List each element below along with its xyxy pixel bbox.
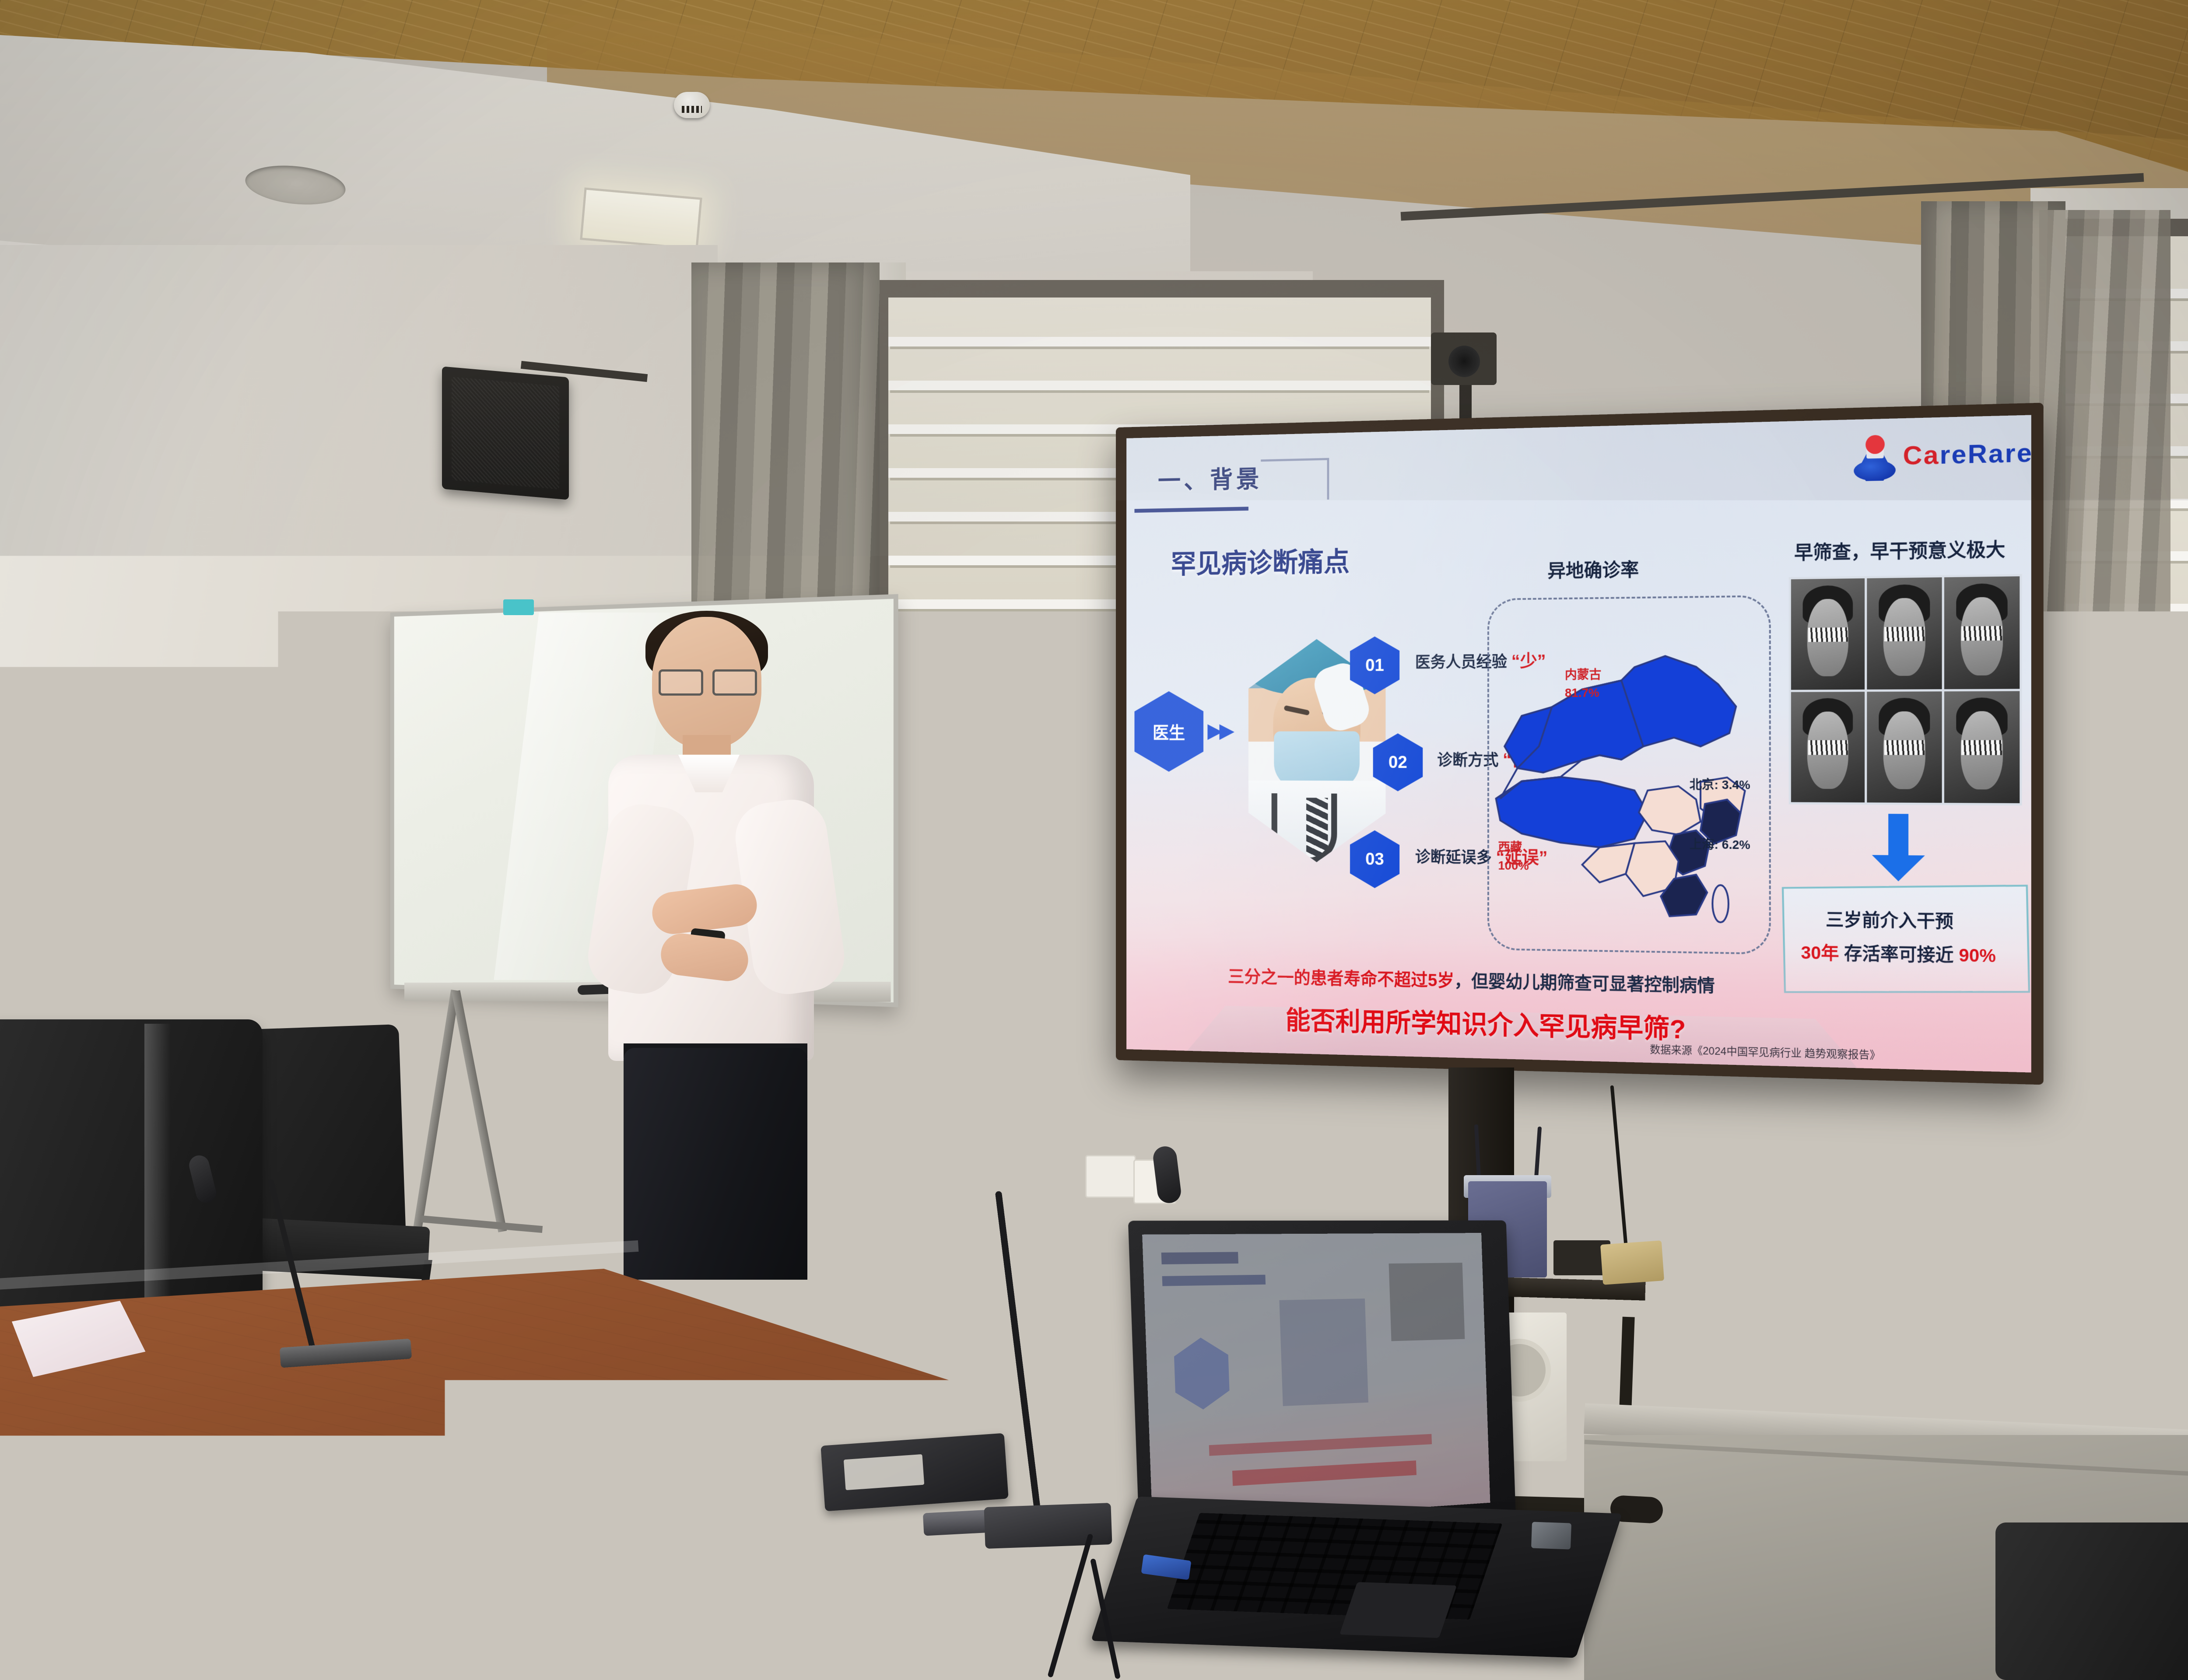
- wall-speaker-icon: [442, 366, 569, 500]
- title-underline: [1134, 507, 1248, 513]
- wall-socket[interactable]: [1781, 1225, 1841, 1270]
- right-chair[interactable]: [1995, 1522, 2188, 1680]
- presenter-trousers: [624, 1048, 807, 1280]
- patient-photo: [1867, 577, 1942, 689]
- patient-photo: [1944, 691, 2020, 803]
- logo-cone-base-icon: [1854, 460, 1896, 481]
- shelf-wooden-block: [1600, 1240, 1664, 1285]
- conference-room-scene: CareRare 一、背景 罕见病诊断痛点 医生 ▶▶: [0, 0, 2188, 1680]
- map-title: 异地确诊率: [1547, 555, 1639, 583]
- pain-point-number-03: 03: [1350, 830, 1399, 889]
- map-label-xizang: 西藏: [1498, 838, 1522, 855]
- actor-hexagon: 医生: [1134, 691, 1203, 772]
- slide-section-title: 一、背景: [1158, 459, 1262, 496]
- carerare-logo: CareRare: [1853, 431, 2027, 482]
- power-adapter-label: [844, 1454, 924, 1490]
- presenter-person: [600, 617, 871, 1273]
- patient-photo: [1867, 691, 1942, 803]
- whiteboard-clip: [503, 599, 534, 615]
- wall-socket[interactable]: [1085, 1155, 1136, 1198]
- audience-member: [1462, 1317, 1855, 1680]
- map-label-shanghai: 上海: 6.2%: [1690, 835, 1750, 853]
- router-antenna-icon: [1534, 1127, 1542, 1179]
- title-bracket: [1261, 458, 1329, 501]
- laptop-keyboard[interactable]: [1167, 1513, 1502, 1620]
- map-value-neimenggu: 81.7%: [1565, 686, 1599, 700]
- down-arrow-icon: [1871, 814, 1926, 882]
- slide-subheading: 罕见病诊断痛点: [1171, 540, 1350, 581]
- arrow-right-icon: ▶▶: [1207, 719, 1231, 742]
- map-label-beijing: 北京: 3.4%: [1690, 775, 1750, 793]
- presentation-slide[interactable]: CareRare 一、背景 罕见病诊断痛点 医生 ▶▶: [1126, 415, 2031, 1072]
- stethoscope-icon: [1272, 793, 1337, 863]
- map-value-xizang: 100%: [1498, 859, 1529, 873]
- smoke-detector-icon: [674, 92, 710, 118]
- glasses-icon: [659, 669, 757, 693]
- remote-control[interactable]: [984, 1503, 1112, 1549]
- patient-photo: [1791, 578, 1865, 689]
- patient-photo: [1791, 692, 1865, 803]
- laptop-touchpad[interactable]: [1339, 1582, 1457, 1638]
- patient-photo: [1944, 576, 2020, 689]
- outcome-line-1: 三岁前介入干预: [1826, 905, 1953, 933]
- map-label-neimenggu: 内蒙古: [1565, 665, 1601, 683]
- faces-panel-title: 早筛查，早干预意义极大: [1794, 534, 2005, 565]
- camera-lens-icon: [1448, 346, 1480, 377]
- laptop-screen[interactable]: [1142, 1233, 1490, 1525]
- audience-hair-highlight: [1523, 1339, 1645, 1417]
- logo-wordmark: CareRare: [1903, 437, 2031, 471]
- patient-photo-grid: [1789, 574, 2022, 805]
- ceiling-light-fixture: [580, 187, 702, 250]
